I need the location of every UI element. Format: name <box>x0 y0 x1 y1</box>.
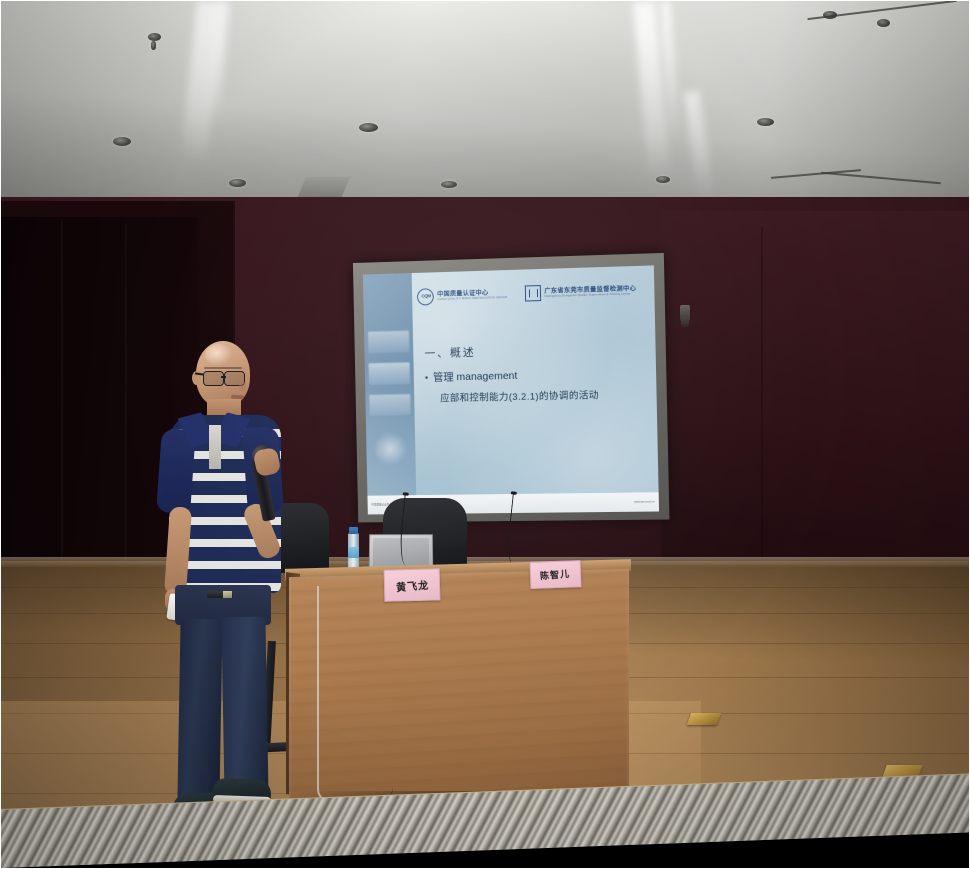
cqm-logo: CQM 中国质量认证中心 CHINA QUALITY MARK CERTIFIC… <box>417 286 507 306</box>
ceiling-shading <box>1 1 970 216</box>
microphone-cable <box>317 586 335 803</box>
slide-strip-thumbnail <box>369 362 410 385</box>
dongguan-logo-en: Guangdong Dongguan Quality Supervision &… <box>544 292 636 298</box>
projection-screen-frame: CQM 中国质量认证中心 CHINA QUALITY MARK CERTIFIC… <box>353 253 670 523</box>
name-card: 陈智儿 <box>530 560 582 589</box>
presenter-table-front <box>289 569 629 807</box>
bullet-dot-icon: • <box>425 374 428 383</box>
slide-bullet-text: 管理 management <box>433 368 518 385</box>
recessed-downlight-icon <box>877 19 890 27</box>
slide-bullet-line: • 管理 management <box>425 365 642 385</box>
recessed-downlight-icon <box>113 137 131 146</box>
recessed-downlight-icon <box>656 176 670 183</box>
wall-seam <box>761 227 763 557</box>
recessed-downlight-icon <box>441 181 457 188</box>
cqm-round-logo-icon: CQM <box>417 288 434 305</box>
dongguan-square-logo-icon <box>525 285 541 301</box>
name-card-text: 陈智儿 <box>540 567 571 583</box>
dongguan-logo: 广东省东莞市质量监督检测中心 Guangdong Dongguan Qualit… <box>525 282 636 301</box>
ceiling <box>1 1 970 216</box>
presenter-leg-right <box>221 617 268 802</box>
slide-strip-graphic <box>373 432 408 466</box>
presenter <box>151 341 311 841</box>
belt-buckle <box>223 591 232 598</box>
recessed-downlight-icon <box>148 33 161 41</box>
name-card-text: 黄飞龙 <box>395 576 429 594</box>
cqm-logo-text: CQM <box>421 294 430 300</box>
bottle-label <box>348 547 359 558</box>
recessed-downlight-icon <box>151 41 156 50</box>
presenter-leg-left <box>177 619 222 802</box>
presenter-brow <box>204 367 242 369</box>
slide-logo-row: CQM 中国质量认证中心 CHINA QUALITY MARK CERTIFIC… <box>417 282 642 306</box>
cqm-logo-en: CHINA QUALITY MARK CERTIFICATION GROUP <box>437 296 507 301</box>
eyeglasses-bridge <box>221 376 226 378</box>
name-card: 黄飞龙 <box>384 568 441 601</box>
slide-strip-thumbnail <box>368 331 409 354</box>
recessed-downlight-icon <box>359 123 378 132</box>
slide-footer-right: www.cqm.com.cn <box>634 500 655 503</box>
head-highlight <box>205 344 233 366</box>
slide-body: 一、概述 • 管理 management 应部和控制能力(3.2.1)的协调的活… <box>424 340 642 405</box>
dongguan-logo-caption: 广东省东莞市质量监督检测中心 Guangdong Dongguan Qualit… <box>544 286 636 298</box>
bottle-cap <box>349 527 358 534</box>
slide-sidebar-strip <box>363 273 416 514</box>
slide-subline: 应部和控制能力(3.2.1)的协调的活动 <box>425 386 642 404</box>
slide-heading: 一、概述 <box>424 340 641 361</box>
eyeglasses-icon <box>203 371 224 386</box>
presenter-nose <box>239 381 246 391</box>
dongguan-logo-glyph <box>529 289 538 297</box>
cqm-logo-caption: 中国质量认证中心 CHINA QUALITY MARK CERTIFICATIO… <box>437 290 507 302</box>
projection-screen: CQM 中国质量认证中心 CHINA QUALITY MARK CERTIFIC… <box>363 265 659 514</box>
conference-photo: CQM 中国质量认证中心 CHINA QUALITY MARK CERTIFIC… <box>0 0 970 869</box>
wall-speaker-icon <box>680 305 690 321</box>
right-wall-panel <box>661 211 970 571</box>
presentation-slide: CQM 中国质量认证中心 CHINA QUALITY MARK CERTIFIC… <box>363 265 659 514</box>
shirt-placket <box>209 425 221 469</box>
recessed-downlight-icon <box>757 118 774 126</box>
slide-strip-thumbnail <box>369 394 410 416</box>
recessed-downlight-icon <box>229 179 246 187</box>
floor-outlet-plate <box>687 713 721 725</box>
